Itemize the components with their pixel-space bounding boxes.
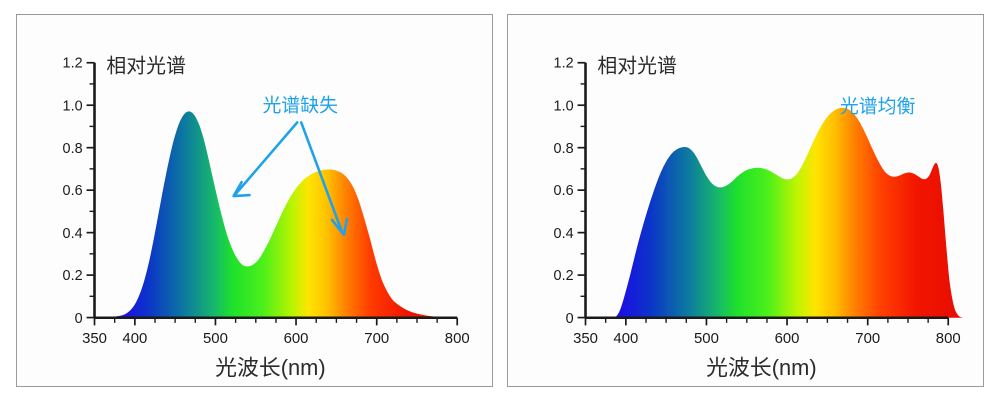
left-ytick-7: 0	[75, 311, 83, 327]
left-ytick-6: 0.2	[63, 268, 83, 284]
right-ytick-2: 1.0	[554, 98, 574, 114]
right-ytick-3: 0.8	[554, 141, 574, 157]
left-xtick-600: 600	[284, 331, 309, 347]
left-chart-title: 相对光谱	[106, 56, 186, 78]
right-xtick-700: 700	[855, 331, 880, 347]
right-xtick-350: 350	[573, 331, 598, 347]
left-xtick-700: 700	[364, 331, 389, 347]
left-ytick-1: 1.2	[63, 56, 83, 72]
right-chart-svg: 1.2 1.0 0.8 0.6 0.4 0.2 0 350 400 500 60…	[508, 15, 983, 386]
figure-root: 1.2 1.0 0.8 0.6 0.4 0.2 0 350 400 500 60…	[0, 0, 1000, 401]
left-xtick-400: 400	[122, 331, 147, 347]
right-ytick-6: 0.2	[554, 268, 574, 284]
right-chart-title: 相对光谱	[597, 56, 677, 78]
left-xtick-800: 800	[445, 331, 470, 347]
right-ytick-5: 0.4	[554, 226, 574, 242]
left-chart-svg: 1.2 1.0 0.8 0.6 0.4 0.2 0 350 400 500 60…	[17, 15, 492, 386]
right-annotation-label: 光谱均衡	[840, 95, 916, 117]
arrow-left-shaft	[236, 122, 298, 194]
left-spectrum-area	[95, 111, 458, 317]
right-spectrum-area	[586, 108, 970, 318]
panel-right-spectrum: 1.2 1.0 0.8 0.6 0.4 0.2 0 350 400 500 60…	[507, 14, 984, 387]
right-ytick-4: 0.6	[554, 183, 574, 199]
left-annotation-label: 光谱缺失	[262, 94, 338, 116]
left-ytick-5: 0.4	[63, 226, 83, 242]
right-ytick-7: 0	[566, 311, 574, 327]
right-xtick-600: 600	[775, 331, 800, 347]
left-xaxis-title: 光波长(nm)	[215, 355, 325, 380]
panel-left-spectrum: 1.2 1.0 0.8 0.6 0.4 0.2 0 350 400 500 60…	[16, 14, 493, 387]
right-xaxis-title: 光波长(nm)	[706, 355, 816, 380]
left-ytick-3: 0.8	[63, 141, 83, 157]
right-xtick-800: 800	[936, 331, 961, 347]
right-xtick-500: 500	[694, 331, 719, 347]
left-xtick-350: 350	[82, 331, 107, 347]
left-ytick-2: 1.0	[63, 98, 83, 114]
right-ytick-1: 1.2	[554, 56, 574, 72]
left-ytick-4: 0.6	[63, 183, 83, 199]
left-xtick-500: 500	[203, 331, 228, 347]
right-xtick-400: 400	[613, 331, 638, 347]
